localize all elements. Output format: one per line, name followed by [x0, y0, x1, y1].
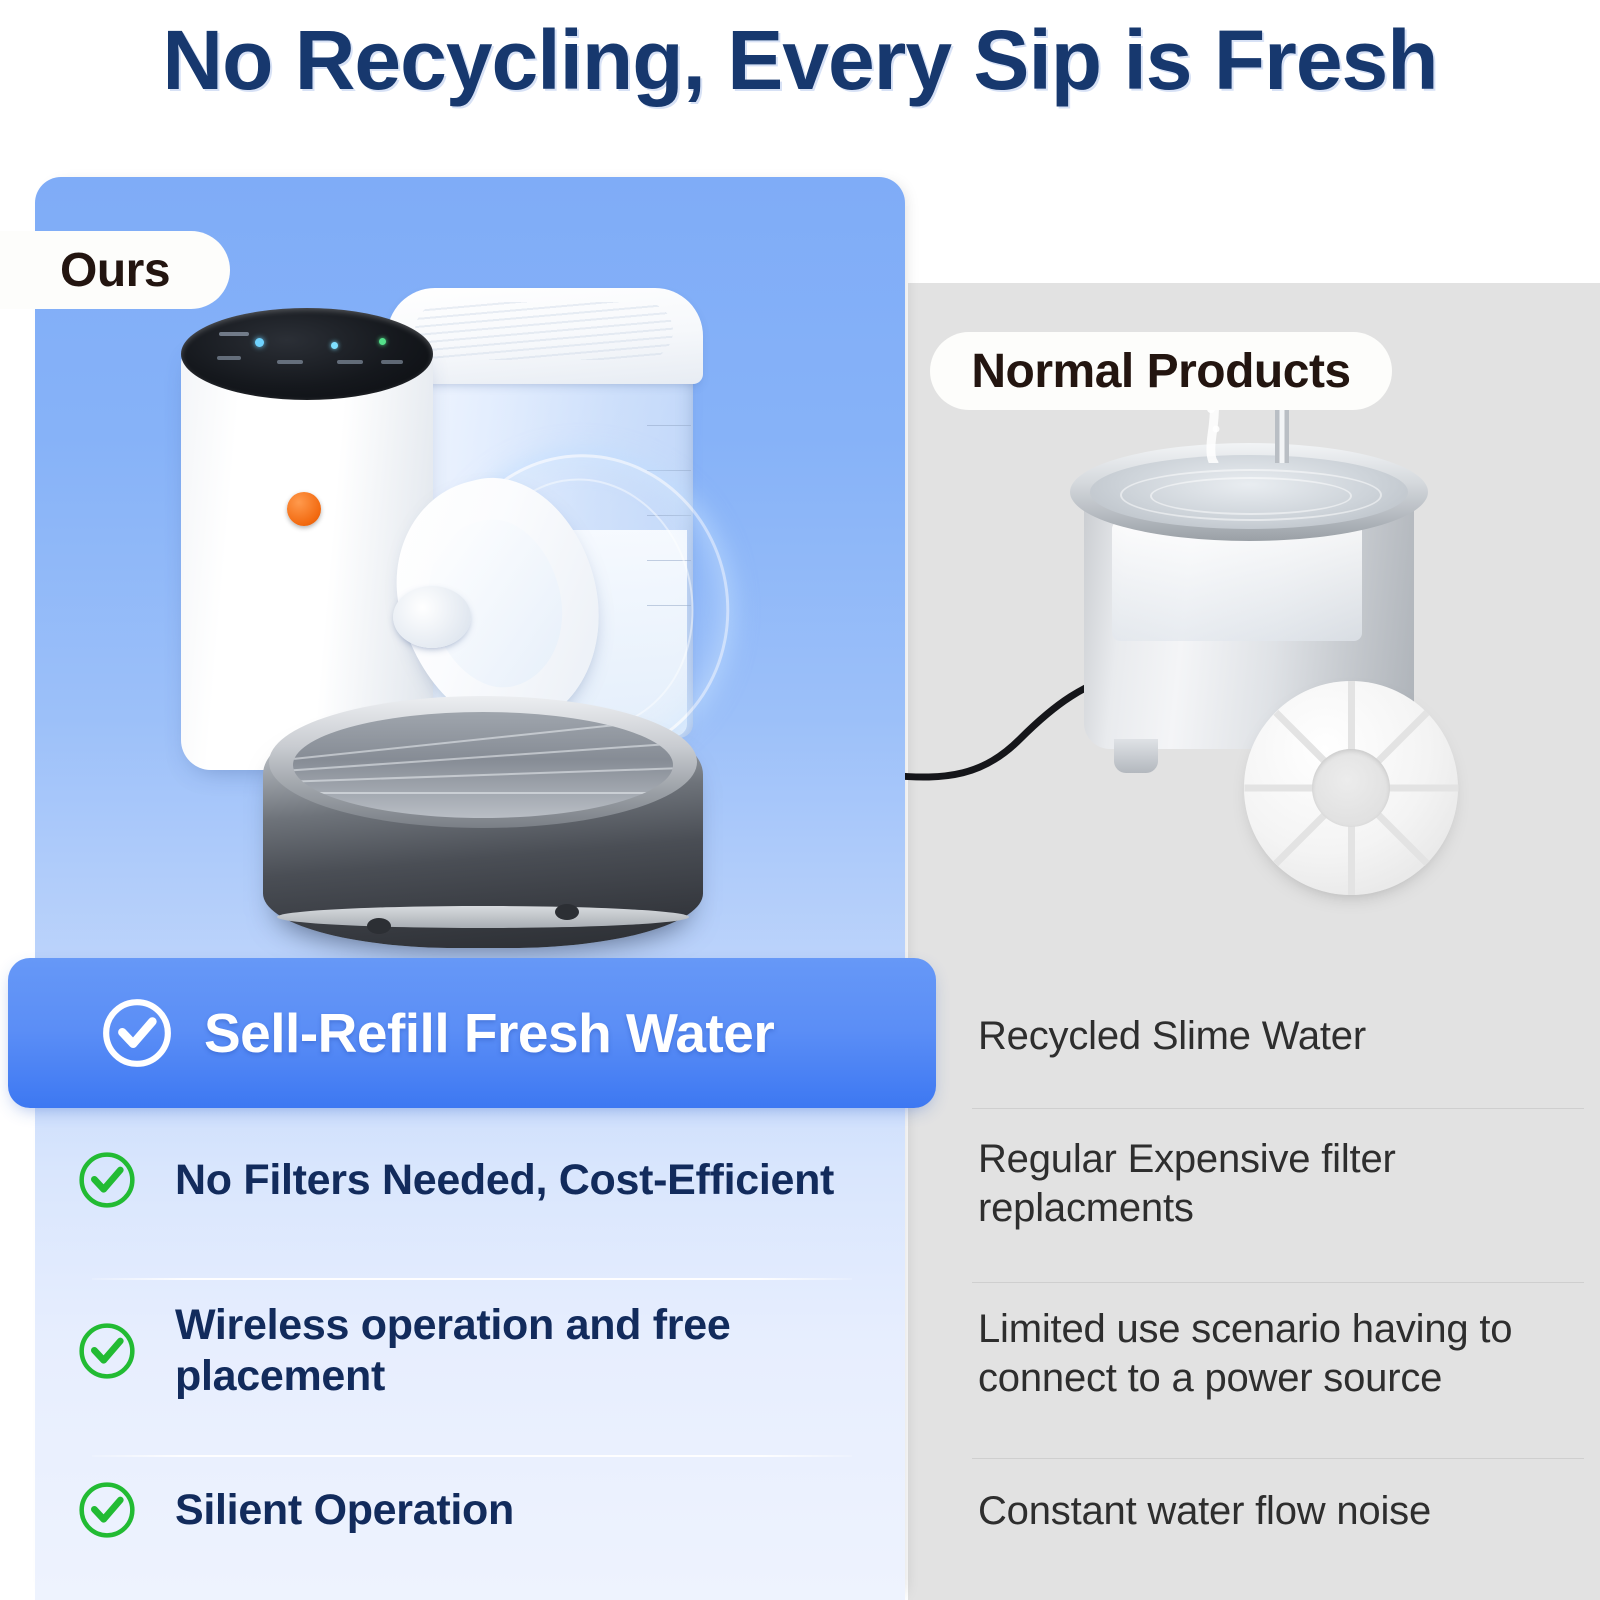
feature-label: No Filters Needed, Cost-Efficient — [175, 1155, 834, 1206]
bowl-foot-pad — [555, 904, 579, 920]
check-circle-icon — [75, 1478, 139, 1542]
drawback-label: Limited use scenario having to connect t… — [978, 1307, 1512, 1400]
tank-lid — [387, 288, 703, 384]
drawback-divider — [972, 1108, 1584, 1109]
check-circle-icon — [100, 996, 174, 1070]
comparison-infographic: No Recycling, Every Sip is Fresh — [0, 0, 1600, 1600]
water-ripple — [1150, 477, 1352, 515]
check-circle-icon — [75, 1319, 139, 1383]
drawback-label: Recycled Slime Water — [978, 1014, 1366, 1058]
drawback-divider — [972, 1282, 1584, 1283]
filter-center-hole — [1312, 749, 1390, 827]
drawback-divider — [972, 1458, 1584, 1459]
ours-badge-label: Ours — [60, 243, 170, 298]
bowl-foot-ring — [277, 906, 689, 928]
feature-label: Wireless operation and free placement — [175, 1300, 815, 1401]
touch-control-panel — [181, 308, 433, 400]
check-circle-icon — [75, 1148, 139, 1212]
feature-divider — [92, 1278, 852, 1280]
power-button[interactable] — [287, 492, 321, 526]
normal-products-badge-label: Normal Products — [971, 344, 1350, 399]
scoop-hub — [393, 586, 471, 648]
feature-label: Silient Operation — [175, 1485, 514, 1536]
highlight-feature-label: Sell-Refill Fresh Water — [204, 1001, 774, 1065]
feature-row-no-filters[interactable]: No Filters Needed, Cost-Efficient — [75, 1148, 865, 1212]
ours-product-image — [35, 230, 905, 930]
bowl-grate — [293, 712, 673, 818]
drawback-row-flow-noise: Constant water flow noise — [978, 1487, 1578, 1536]
drawback-row-filter-replacements: Regular Expensive filter replacments — [978, 1135, 1538, 1233]
bowl-foot-pad — [367, 918, 391, 934]
drawback-label: Constant water flow noise — [978, 1489, 1431, 1533]
feature-row-wireless[interactable]: Wireless operation and free placement — [75, 1300, 865, 1401]
normal-products-badge: Normal Products — [930, 332, 1392, 410]
drawback-row-recycled-water: Recycled Slime Water — [978, 1012, 1578, 1061]
feature-row-silent[interactable]: Silient Operation — [75, 1478, 865, 1542]
feature-divider — [92, 1455, 852, 1457]
highlight-feature-bar[interactable]: Sell-Refill Fresh Water — [8, 958, 936, 1108]
drawback-label: Regular Expensive filter replacments — [978, 1137, 1396, 1230]
fountain-foot-left — [1114, 739, 1158, 773]
page-title: No Recycling, Every Sip is Fresh — [0, 12, 1600, 109]
tank-measure-marks — [647, 380, 691, 720]
drawback-row-power-source: Limited use scenario having to connect t… — [978, 1305, 1590, 1403]
ours-badge: Ours — [0, 231, 230, 309]
